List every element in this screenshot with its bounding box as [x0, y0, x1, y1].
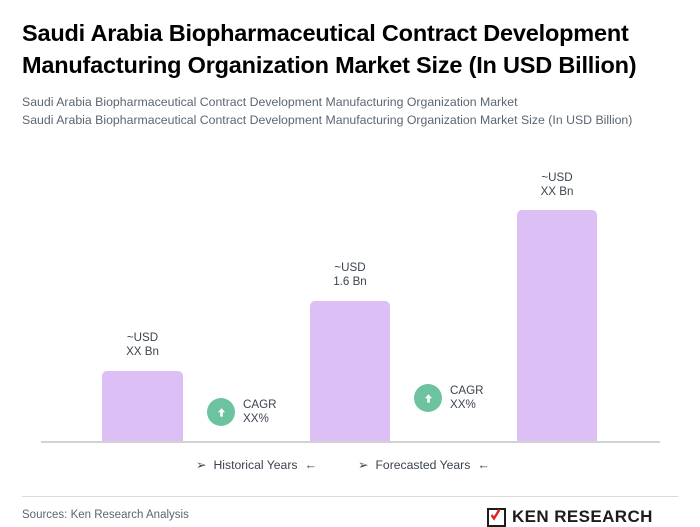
bar-forecast-year	[517, 210, 597, 442]
bar-value-label-3: ~USD XX Bn	[517, 171, 597, 199]
page-title: Saudi Arabia Biopharmaceutical Contract …	[22, 18, 662, 82]
subtitle-line-1: Saudi Arabia Biopharmaceutical Contract …	[22, 93, 662, 111]
x-axis-baseline	[41, 441, 660, 443]
axis-period-forecasted: ➢ Forecasted Years ←	[358, 458, 490, 472]
arrow-right-glyph: ➢	[358, 459, 368, 472]
subtitle-line-2: Saudi Arabia Biopharmaceutical Contract …	[22, 111, 662, 129]
cagr-badge-2: CAGR XX%	[414, 384, 484, 412]
bar-base-year	[310, 301, 390, 442]
brand-logo: KEN RESEARCH	[487, 507, 653, 527]
footer-divider	[22, 496, 678, 497]
cagr-badge-1: CAGR XX%	[207, 398, 277, 426]
arrow-left-glyph: ←	[304, 459, 317, 472]
axis-period-forecasted-label: Forecasted Years	[375, 458, 470, 472]
arrow-up-icon	[414, 384, 442, 412]
chart-header: Saudi Arabia Biopharmaceutical Contract …	[22, 18, 662, 130]
axis-period-historical: ➢ Historical Years ←	[196, 458, 317, 472]
bar-value-label-1: ~USD XX Bn	[102, 331, 183, 359]
bar-historical-year	[102, 371, 183, 442]
cagr-label-1: CAGR XX%	[243, 398, 277, 426]
cagr-label-2: CAGR XX%	[450, 384, 484, 412]
source-note: Sources: Ken Research Analysis	[22, 509, 189, 521]
bar-value-label-2: ~USD 1.6 Bn	[310, 261, 390, 289]
axis-period-historical-label: Historical Years	[213, 458, 297, 472]
checkmark-square-icon	[487, 508, 506, 527]
arrow-right-glyph: ➢	[196, 459, 206, 472]
brand-wordmark: KEN RESEARCH	[512, 507, 653, 527]
arrow-up-icon	[207, 398, 235, 426]
arrow-left-glyph: ←	[477, 459, 490, 472]
subtitle-block: Saudi Arabia Biopharmaceutical Contract …	[22, 93, 662, 130]
